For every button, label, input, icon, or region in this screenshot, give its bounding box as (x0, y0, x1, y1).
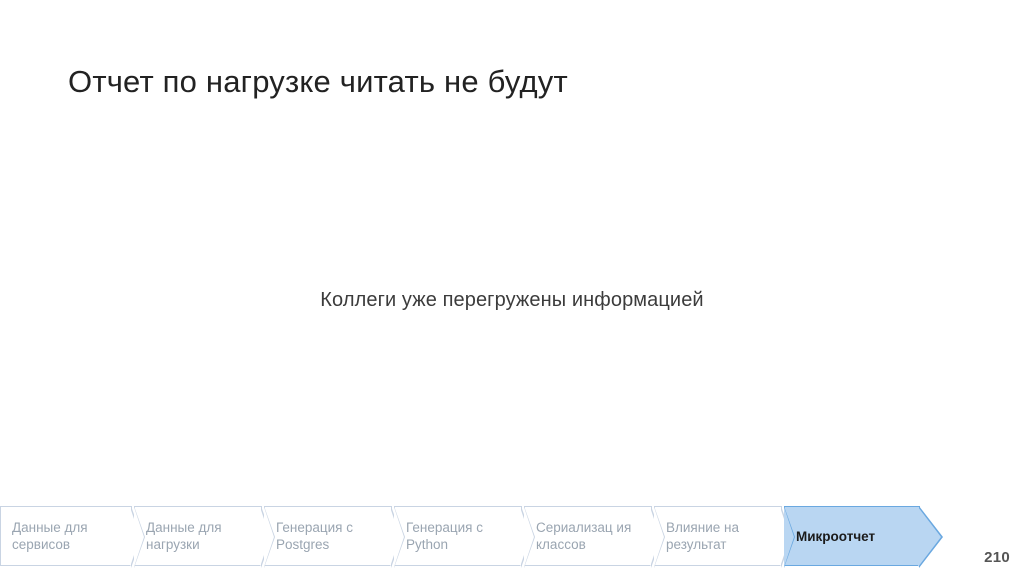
process-step-label: Влияние на результат (666, 519, 765, 553)
page-title: Отчет по нагрузке читать не будут (68, 62, 568, 102)
process-step-3[interactable]: Генерация с Postgres (264, 506, 392, 566)
chevron-notch-in-fill-icon (654, 507, 664, 567)
process-step-label: Генерация с Python (406, 519, 505, 553)
slide-subtitle: Коллеги уже перегружены информацией (0, 286, 1024, 314)
process-step-2[interactable]: Данные для нагрузки (134, 506, 262, 566)
process-step-7-active[interactable]: Микроотчет (784, 506, 920, 566)
slide: Отчет по нагрузке читать не будут Коллег… (0, 0, 1024, 576)
process-step-label: Сериализац ия классов (536, 519, 635, 553)
process-step-label: Генерация с Postgres (276, 519, 375, 553)
process-step-1[interactable]: Данные для сервисов (0, 506, 132, 566)
process-bar: Данные для сервисов Данные для нагрузки … (0, 506, 922, 566)
chevron-arrow-fill-icon (918, 507, 941, 567)
process-step-label: Данные для сервисов (12, 519, 115, 553)
chevron-notch-in-fill-icon (134, 507, 144, 567)
chevron-notch-in-fill-icon (264, 507, 274, 567)
chevron-notch-in-fill-icon (784, 507, 794, 567)
process-step-6[interactable]: Влияние на результат (654, 506, 782, 566)
process-step-5[interactable]: Сериализац ия классов (524, 506, 652, 566)
process-step-label: Данные для нагрузки (146, 519, 245, 553)
process-step-4[interactable]: Генерация с Python (394, 506, 522, 566)
process-step-label: Микроотчет (796, 528, 875, 545)
page-number: 210 (984, 549, 1010, 566)
chevron-notch-in-fill-icon (394, 507, 404, 567)
chevron-notch-in-fill-icon (524, 507, 534, 567)
